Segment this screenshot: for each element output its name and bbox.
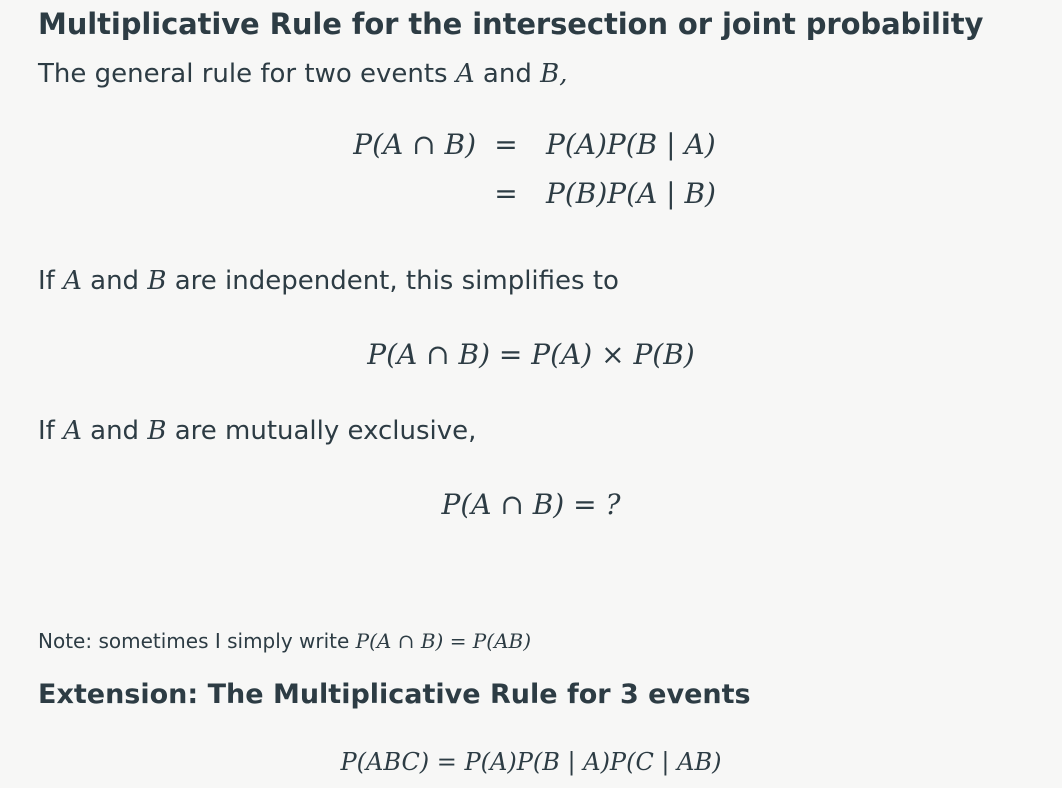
intro-variable-a: A [456, 59, 475, 89]
exclusive-text-prefix: If [38, 416, 55, 446]
exclusive-text-line: If A and B are mutually exclusive, [38, 415, 476, 449]
intro-conjunction: and [483, 59, 532, 89]
exclusive-variable-b: B [147, 416, 166, 446]
general-rule-lhs-empty [306, 177, 476, 210]
independent-equation: P(A ∩ B) = P(A) × P(B) [367, 338, 694, 371]
exclusive-equation-block: P(A ∩ B) = ? [0, 488, 1062, 521]
independent-variable-a: A [63, 266, 82, 296]
note-line: Note: sometimes I simply write P(A ∩ B) … [38, 628, 531, 654]
independent-text-suffix: are independent, this simplifies to [175, 266, 619, 296]
exclusive-conjunction: and [90, 416, 139, 446]
exclusive-text-suffix: are mutually exclusive, [175, 416, 477, 446]
general-rule-lhs: P(A ∩ B) [306, 128, 476, 161]
note-equation: P(A ∩ B) = P(AB) [356, 629, 531, 653]
independent-conjunction: and [90, 266, 139, 296]
intro-text-line: The general rule for two events A and B, [38, 58, 567, 92]
independent-variable-b: B [147, 266, 166, 296]
general-rule-relation-2: = [476, 177, 536, 210]
intro-variable-b: B, [540, 59, 567, 89]
three-events-equation: P(ABC) = P(A)P(B | A)P(C | AB) [341, 748, 722, 776]
general-rule-rhs-1: P(A)P(B | A) [536, 128, 716, 161]
general-rule-relation-1: = [476, 128, 536, 161]
independent-text-prefix: If [38, 266, 55, 296]
intro-text: The general rule for two events [38, 59, 448, 89]
slide-canvas: Multiplicative Rule for the intersection… [0, 0, 1062, 788]
independent-text-line: If A and B are independent, this simplif… [38, 265, 619, 299]
note-prefix-text: Note: sometimes I simply write [38, 629, 349, 653]
general-rule-equation-block: P(A ∩ B) = P(A)P(B | A) = P(B)P(A | B) [0, 128, 1042, 210]
page-title: Multiplicative Rule for the intersection… [38, 6, 983, 42]
exclusive-variable-a: A [63, 416, 82, 446]
general-rule-rhs-2: P(B)P(A | B) [536, 177, 716, 210]
independent-equation-block: P(A ∩ B) = P(A) × P(B) [0, 338, 1062, 371]
extension-heading: Extension: The Multiplicative Rule for 3… [38, 678, 751, 712]
three-events-equation-block: P(ABC) = P(A)P(B | A)P(C | AB) [0, 748, 1062, 776]
exclusive-equation: P(A ∩ B) = ? [441, 488, 620, 521]
